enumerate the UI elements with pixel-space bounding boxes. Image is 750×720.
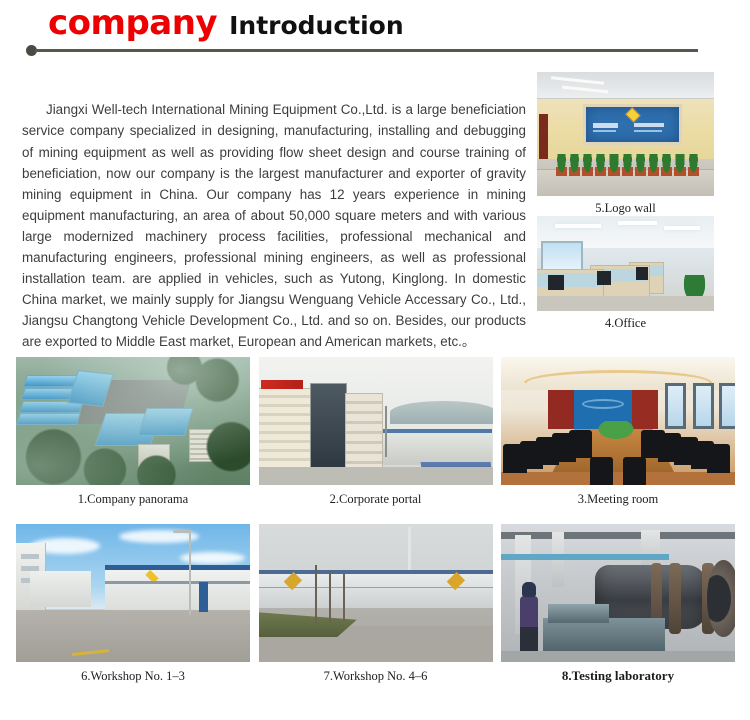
caption-logo-wall: 5.Logo wall xyxy=(537,196,714,216)
section-word: Introduction xyxy=(229,7,404,45)
gallery-row-2: 6.Workshop No. 1–3 7.Workshop No. xyxy=(16,524,735,684)
figure-meeting-room: 3.Meeting room xyxy=(501,357,735,507)
company-introduction-page: company Introduction Jiangxi Well-tech I… xyxy=(0,0,750,720)
figure-testing-laboratory: 8.Testing laboratory xyxy=(501,524,735,684)
brand-word: company xyxy=(48,4,217,42)
photo-company-panorama xyxy=(16,357,250,485)
figure-office: 4.Office xyxy=(537,216,714,331)
figure-workshop-1-3: 6.Workshop No. 1–3 xyxy=(16,524,250,684)
figure-company-panorama: 1.Company panorama xyxy=(16,357,250,507)
photo-gallery: 1.Company panorama 2 xyxy=(16,357,735,684)
figure-logo-wall: 5.Logo wall xyxy=(537,72,714,216)
caption-workshop-1-3: 6.Workshop No. 1–3 xyxy=(16,662,250,684)
caption-workshop-4-6: 7.Workshop No. 4–6 xyxy=(259,662,493,684)
figure-corporate-portal: 2.Corporate portal xyxy=(259,357,493,507)
photo-meeting-room xyxy=(501,357,735,485)
right-figure-column: 5.Logo wall 4 xyxy=(537,72,714,331)
intro-paragraph: Jiangxi Well-tech International Mining E… xyxy=(22,99,526,352)
figure-workshop-4-6: 7.Workshop No. 4–6 xyxy=(259,524,493,684)
caption-meeting-room: 3.Meeting room xyxy=(501,485,735,507)
photo-workshop-1-3 xyxy=(16,524,250,662)
page-title: company Introduction xyxy=(48,4,404,45)
photo-logo-wall xyxy=(537,72,714,196)
header-divider xyxy=(26,44,698,56)
gallery-row-1: 1.Company panorama 2 xyxy=(16,357,735,507)
photo-corporate-portal xyxy=(259,357,493,485)
page-header: company Introduction xyxy=(0,0,750,62)
caption-company-panorama: 1.Company panorama xyxy=(16,485,250,507)
photo-testing-laboratory xyxy=(501,524,735,662)
photo-office xyxy=(537,216,714,311)
caption-corporate-portal: 2.Corporate portal xyxy=(259,485,493,507)
photo-workshop-4-6 xyxy=(259,524,493,662)
caption-office: 4.Office xyxy=(537,311,714,331)
divider-line xyxy=(35,49,698,52)
caption-testing-laboratory: 8.Testing laboratory xyxy=(501,662,735,684)
